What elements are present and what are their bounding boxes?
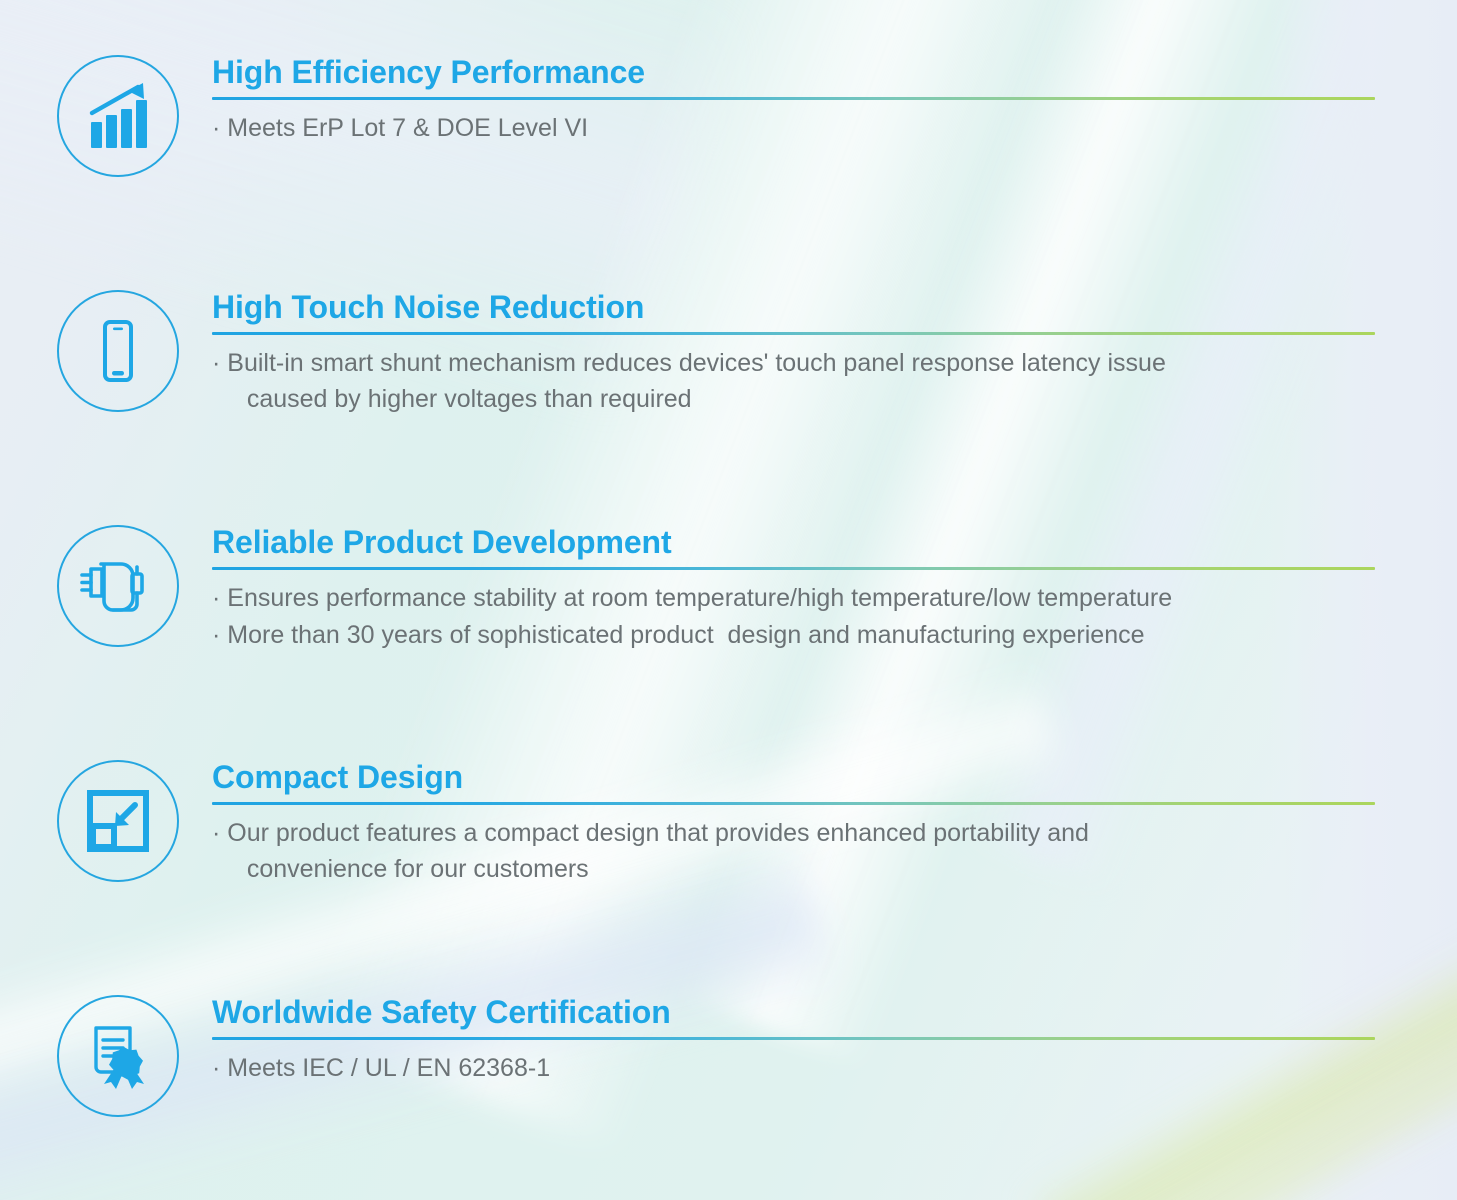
feature-bullets: · Built-in smart shunt mechanism reduces…	[212, 346, 1375, 417]
feature-title: High Efficiency Performance	[212, 55, 1375, 90]
growth-bar-chart-icon	[57, 55, 179, 177]
feature-content: Worldwide Safety Certification · Meets I…	[212, 995, 1375, 1087]
feature-bullet: · Ensures performance stability at room …	[212, 581, 1375, 617]
certificate-seal-icon	[57, 995, 179, 1117]
feature-highlights-page: High Efficiency Performance · Meets ErP …	[0, 0, 1457, 1200]
feature-content: High Efficiency Performance · Meets ErP …	[212, 55, 1375, 147]
feature-icon-wrapper	[57, 525, 179, 647]
feature-divider	[212, 802, 1375, 805]
power-adapter-icon	[57, 525, 179, 647]
feature-divider	[212, 567, 1375, 570]
feature-bullets: · Our product features a compact design …	[212, 816, 1375, 887]
feature-bullets: · Ensures performance stability at room …	[212, 581, 1375, 653]
feature-bullet: · Our product features a compact design …	[212, 816, 1375, 887]
feature-title: High Touch Noise Reduction	[212, 290, 1375, 325]
feature-content: Compact Design · Our product features a …	[212, 760, 1375, 887]
feature-icon-wrapper	[57, 290, 179, 412]
feature-bullet: · Built-in smart shunt mechanism reduces…	[212, 346, 1375, 417]
feature-title: Reliable Product Development	[212, 525, 1375, 560]
feature-icon-wrapper	[57, 55, 179, 177]
feature-title: Worldwide Safety Certification	[212, 995, 1375, 1030]
compact-resize-icon	[57, 760, 179, 882]
feature-icon-wrapper	[57, 995, 179, 1117]
feature-content: High Touch Noise Reduction · Built-in sm…	[212, 290, 1375, 417]
feature-icon-wrapper	[57, 760, 179, 882]
feature-divider	[212, 97, 1375, 100]
smartphone-icon	[57, 290, 179, 412]
feature-bullet: · More than 30 years of sophisticated pr…	[212, 618, 1375, 654]
feature-title: Compact Design	[212, 760, 1375, 795]
feature-bullet: · Meets IEC / UL / EN 62368-1	[212, 1051, 1375, 1087]
feature-content: Reliable Product Development · Ensures p…	[212, 525, 1375, 653]
feature-divider	[212, 332, 1375, 335]
feature-bullets: · Meets ErP Lot 7 & DOE Level VI	[212, 111, 1375, 147]
feature-divider	[212, 1037, 1375, 1040]
feature-list: High Efficiency Performance · Meets ErP …	[0, 0, 1457, 1200]
feature-bullets: · Meets IEC / UL / EN 62368-1	[212, 1051, 1375, 1087]
feature-bullet: · Meets ErP Lot 7 & DOE Level VI	[212, 111, 1375, 147]
